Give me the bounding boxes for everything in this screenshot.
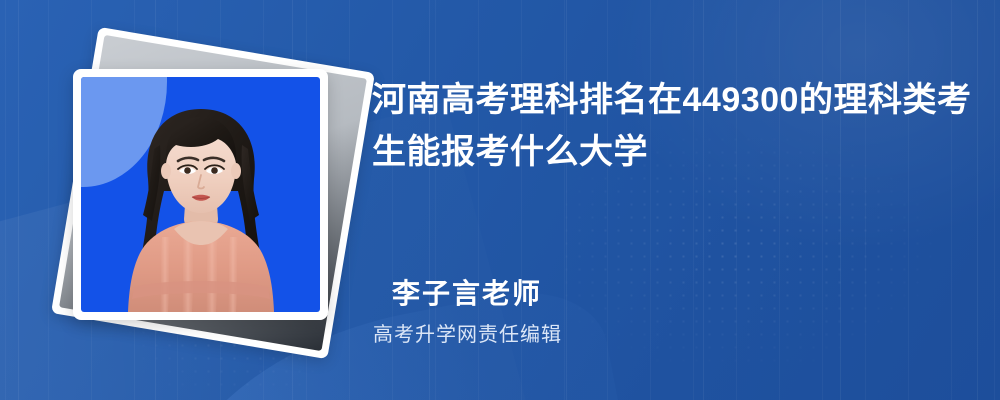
page-title: 河南高考理科排名在449300的理科类考生能报考什么大学	[372, 74, 972, 178]
photo-card-front	[73, 69, 328, 320]
article-cover-banner: 河南高考理科排名在449300的理科类考生能报考什么大学 李子言老师 高考升学网…	[0, 0, 1000, 400]
author-name: 李子言老师	[392, 272, 542, 312]
photo-card-stack	[45, 40, 365, 360]
author-photo	[81, 77, 320, 312]
author-role: 高考升学网责任编辑	[373, 318, 562, 347]
text-block: 河南高考理科排名在449300的理科类考生能报考什么大学 李子言老师 高考升学网…	[370, 0, 980, 400]
author-portrait-illustration	[110, 87, 292, 312]
